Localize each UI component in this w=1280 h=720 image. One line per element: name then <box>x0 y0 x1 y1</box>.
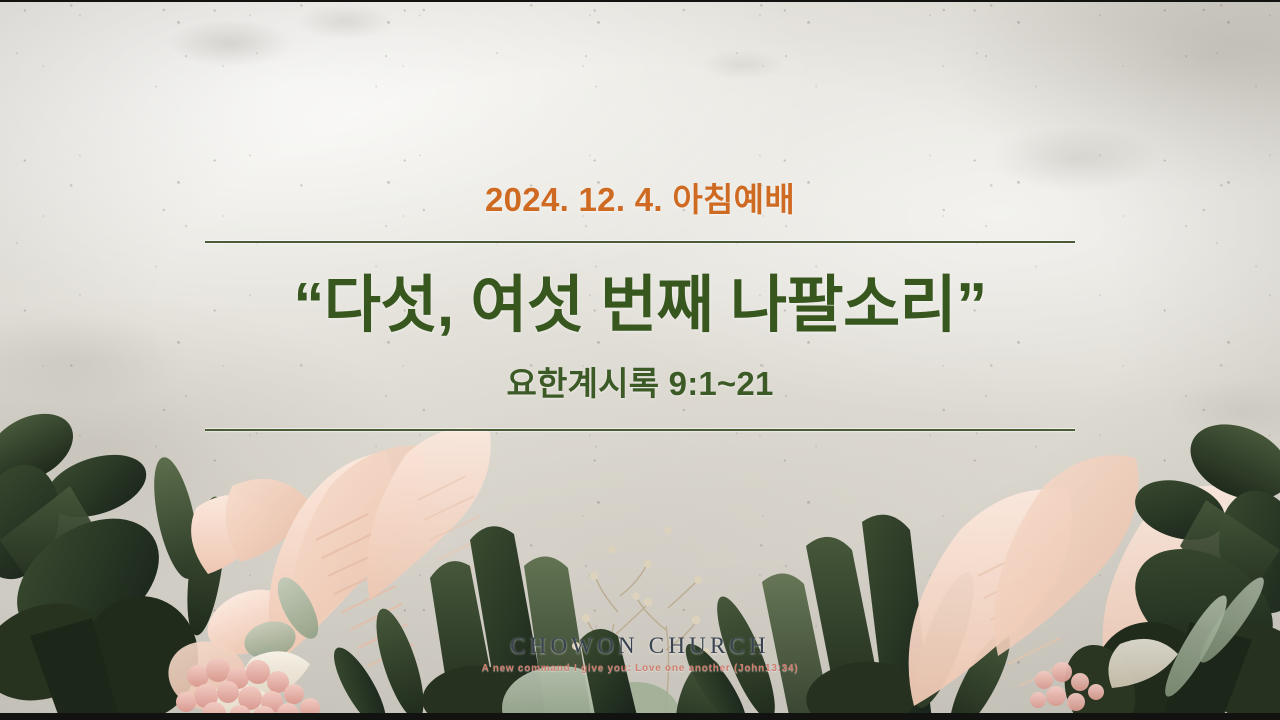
sermon-text-block: 2024. 12. 4. 아침예배 “다섯, 여섯 번째 나팔소리” 요한계시록… <box>0 182 1280 431</box>
church-name: CHOWON CHURCH <box>0 634 1280 657</box>
letterbox-edge-bottom <box>0 713 1280 720</box>
church-tagline: A new command I give you: Love one anoth… <box>0 664 1280 674</box>
service-date-line: 2024. 12. 4. 아침예배 <box>0 182 1280 219</box>
divider-rule-top <box>205 240 1075 243</box>
letterbox-edge-top <box>0 0 1280 2</box>
church-logo: CHOWON CHURCH A new command I give you: … <box>0 634 1280 674</box>
divider-rule-bottom <box>205 428 1075 431</box>
scripture-reference: 요한계시록 9:1~21 <box>0 364 1280 404</box>
sermon-title: “다섯, 여섯 번째 나팔소리” <box>0 269 1280 342</box>
sermon-title-slide: 2024. 12. 4. 아침예배 “다섯, 여섯 번째 나팔소리” 요한계시록… <box>0 0 1280 720</box>
